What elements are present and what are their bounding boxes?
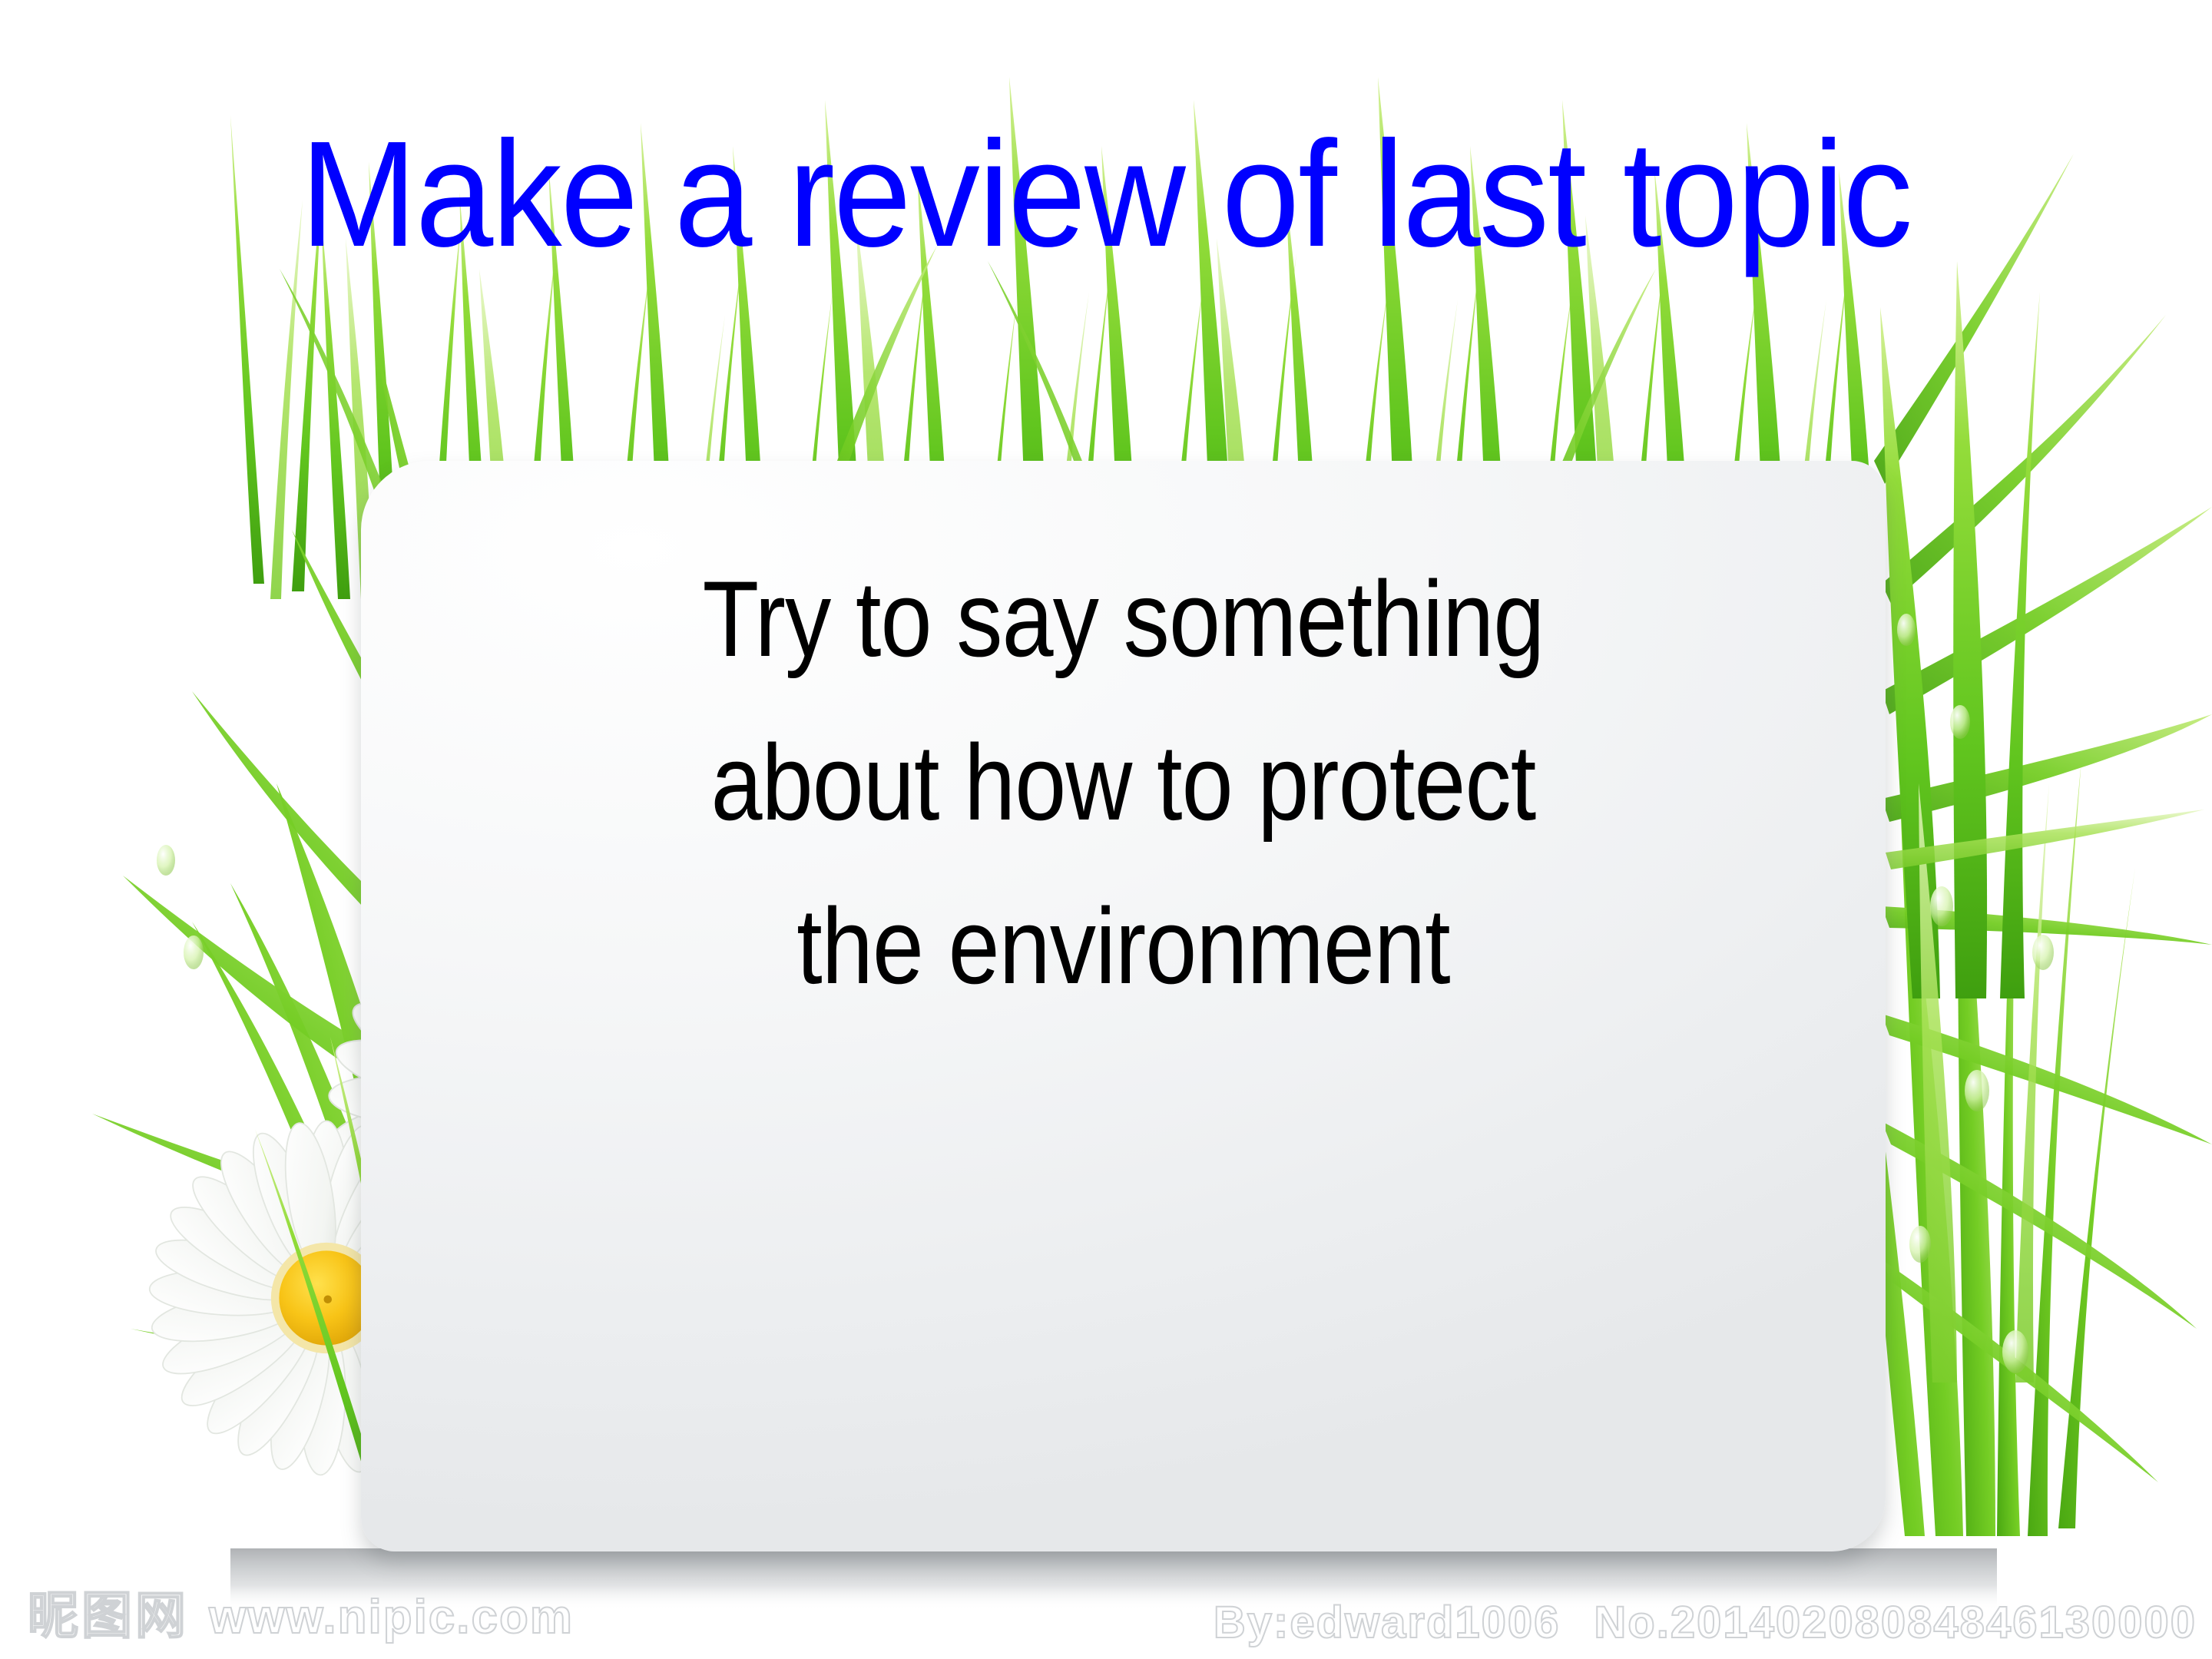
watermark-left: 昵图网 www.nipic.com (28, 1575, 574, 1648)
grass-right-clump (1846, 154, 2212, 1536)
card-line-3: the environment (468, 865, 1779, 1028)
slide-canvas: Try to say something about how to protec… (0, 0, 2212, 1659)
card-body-text: Try to say something about how to protec… (361, 538, 1886, 1028)
slide-title-text: Make a review of last topic (300, 108, 1912, 280)
watermark-image-number: No.20140208084846130000 (1594, 1597, 2197, 1648)
watermark-site-logo-cn: 昵图网 (28, 1575, 189, 1648)
card-line-2: about how to protect (468, 701, 1779, 865)
slide-title: Make a review of last topic (0, 108, 2212, 280)
watermark-site-url: www.nipic.com (209, 1590, 574, 1644)
card-line-1: Try to say something (468, 538, 1779, 701)
dew-drops-right (1897, 614, 2054, 1373)
watermark-author: By:edward1006 (1214, 1597, 1561, 1648)
watermark-right: By:edward1006 No.20140208084846130000 (1214, 1597, 2197, 1648)
